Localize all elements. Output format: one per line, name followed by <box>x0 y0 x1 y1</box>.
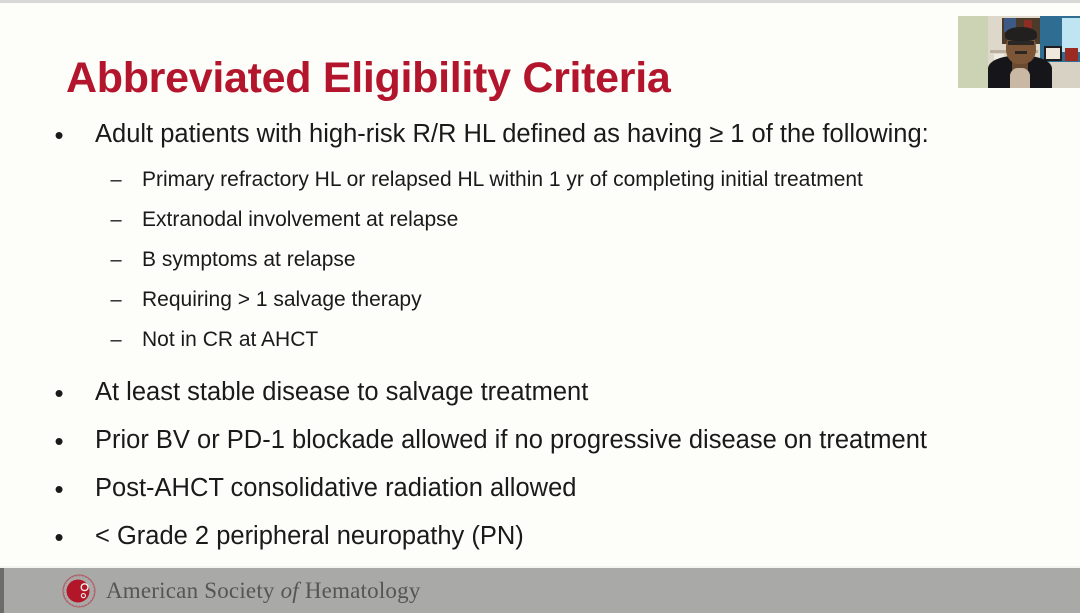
organization-name: American Society of Hematology <box>106 578 421 604</box>
bullet-item: • < Grade 2 peripheral neuropathy (PN) <box>0 518 1080 560</box>
bullet-list: • Adult patients with high-risk R/R HL d… <box>0 116 1080 596</box>
org-name-suffix: Hematology <box>299 578 421 603</box>
webcam-picture-frame <box>1065 48 1078 61</box>
sub-bullet-text: Primary refractory HL or relapsed HL wit… <box>142 164 1080 196</box>
bullet-text: Adult patients with high-risk R/R HL def… <box>95 116 1080 152</box>
webcam-person-glasses <box>1008 41 1034 45</box>
bullet-text: At least stable disease to salvage treat… <box>95 374 1080 410</box>
page-title: Abbreviated Eligibility Criteria <box>66 54 671 103</box>
bullet-marker-icon: • <box>52 118 66 152</box>
webcam-person-hair <box>1005 27 1037 41</box>
dash-marker-icon: – <box>108 164 124 196</box>
bullet-marker-icon: • <box>52 472 66 506</box>
presenter-webcam-video[interactable] <box>958 16 1080 88</box>
top-divider <box>0 0 1080 3</box>
bullet-text: < Grade 2 peripheral neuropathy (PN) <box>95 518 1080 554</box>
bullet-text: Post-AHCT consolidative radiation allowe… <box>95 470 1080 506</box>
bullet-text: Prior BV or PD-1 blockade allowed if no … <box>95 422 1080 458</box>
dash-marker-icon: – <box>108 324 124 356</box>
org-name-italic: of <box>281 578 299 603</box>
sub-bullet-item: – Extranodal involvement at relapse <box>0 204 1080 244</box>
sub-bullet-item: – B symptoms at relapse <box>0 244 1080 284</box>
webcam-window <box>1062 18 1080 52</box>
footer-left-edge <box>0 568 4 613</box>
dash-marker-icon: – <box>108 204 124 236</box>
ash-logo-icon <box>62 574 96 608</box>
bullet-marker-icon: • <box>52 376 66 410</box>
dash-marker-icon: – <box>108 284 124 316</box>
sub-bullet-text: Not in CR at AHCT <box>142 324 1080 356</box>
sub-bullet-item: – Requiring > 1 salvage therapy <box>0 284 1080 324</box>
bullet-marker-icon: • <box>52 424 66 458</box>
sub-bullet-text: Extranodal involvement at relapse <box>142 204 1080 236</box>
bullet-item: • Post-AHCT consolidative radiation allo… <box>0 470 1080 512</box>
webcam-wall-left <box>958 16 988 88</box>
sub-bullet-item: – Not in CR at AHCT <box>0 324 1080 364</box>
presentation-slide: Abbreviated Eligibility Criteria • Adult… <box>0 0 1080 613</box>
webcam-picture-frame <box>1044 46 1062 61</box>
bullet-item: • At least stable disease to salvage tre… <box>0 374 1080 416</box>
webcam-person-mustache <box>1015 51 1027 54</box>
footer-branding: American Society of Hematology <box>62 568 421 613</box>
bullet-marker-icon: • <box>52 520 66 554</box>
org-name-prefix: American Society <box>106 578 281 603</box>
bullet-item: • Prior BV or PD-1 blockade allowed if n… <box>0 422 1080 464</box>
bullet-item: • Adult patients with high-risk R/R HL d… <box>0 116 1080 158</box>
sub-bullet-item: – Primary refractory HL or relapsed HL w… <box>0 164 1080 204</box>
slide-footer: American Society of Hematology <box>0 566 1080 613</box>
dash-marker-icon: – <box>108 244 124 276</box>
sub-bullet-text: Requiring > 1 salvage therapy <box>142 284 1080 316</box>
sub-bullet-text: B symptoms at relapse <box>142 244 1080 276</box>
webcam-person-shirt <box>1010 68 1030 88</box>
